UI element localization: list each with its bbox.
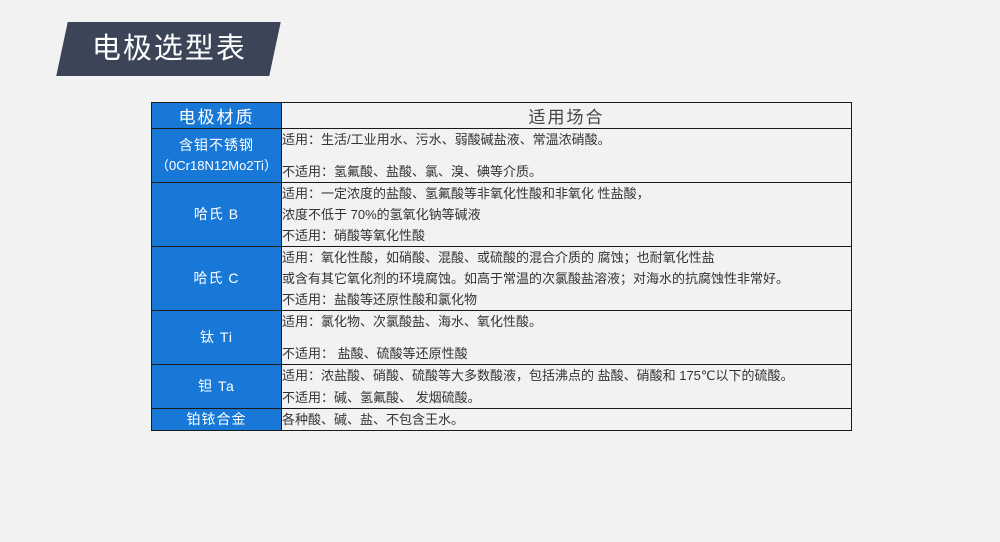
table-row: 含钼不锈钢（0Cr18N12Mo2Ti）适用：生活/工业用水、污水、弱酸碱盐液、… xyxy=(152,129,852,183)
material-name: 哈氏 B xyxy=(194,206,239,222)
usage-line: 适用：氧化性酸，如硝酸、混酸、或硫酸的混合介质的 腐蚀；也耐氧化性盐 xyxy=(282,247,851,268)
usage-line: 不适用： 盐酸、硫酸等还原性酸 xyxy=(282,343,851,364)
cell-usage: 各种酸、碱、盐、不包含王水。 xyxy=(282,408,852,431)
usage-line: 适用：浓盐酸、硝酸、硫酸等大多数酸液，包括沸点的 盐酸、硝酸和 175℃以下的硫… xyxy=(282,365,851,386)
usage-line: 不适用：碱、氢氟酸、 发烟硫酸。 xyxy=(282,387,851,408)
cell-material: 哈氏 B xyxy=(152,183,282,247)
usage-line: 或含有其它氧化剂的环境腐蚀。如高于常温的次氯酸盐溶液；对海水的抗腐蚀性非常好。 xyxy=(282,268,851,289)
table-row: 钛 Ti适用：氯化物、次氯酸盐、海水、氧化性酸。不适用： 盐酸、硫酸等还原性酸 xyxy=(152,311,852,365)
cell-usage: 适用：氯化物、次氯酸盐、海水、氧化性酸。不适用： 盐酸、硫酸等还原性酸 xyxy=(282,311,852,365)
material-name: 哈氏 C xyxy=(194,270,240,286)
cell-material: 哈氏 C xyxy=(152,247,282,311)
usage-line: 不适用：硝酸等氧化性酸 xyxy=(282,225,851,246)
cell-material: 钛 Ti xyxy=(152,311,282,365)
usage-line: 浓度不低于 70%的氢氧化钠等碱液 xyxy=(282,204,851,225)
usage-line: 不适用：盐酸等还原性酸和氯化物 xyxy=(282,289,851,310)
usage-line: 适用：生活/工业用水、污水、弱酸碱盐液、常温浓硝酸。 xyxy=(282,129,851,150)
usage-line: 适用：一定浓度的盐酸、氢氟酸等非氧化性酸和非氧化 性盐酸， xyxy=(282,183,851,204)
column-header-material: 电极材质 xyxy=(152,103,282,129)
table-row: 钽 Ta适用：浓盐酸、硝酸、硫酸等大多数酸液，包括沸点的 盐酸、硝酸和 175℃… xyxy=(152,365,852,408)
table-body: 含钼不锈钢（0Cr18N12Mo2Ti）适用：生活/工业用水、污水、弱酸碱盐液、… xyxy=(152,129,852,431)
usage-line: 适用：氯化物、次氯酸盐、海水、氧化性酸。 xyxy=(282,311,851,332)
cell-material: 钽 Ta xyxy=(152,365,282,408)
cell-usage: 适用：氧化性酸，如硝酸、混酸、或硫酸的混合介质的 腐蚀；也耐氧化性盐或含有其它氧… xyxy=(282,247,852,311)
electrode-selection-table: 电极材质 适用场合 含钼不锈钢（0Cr18N12Mo2Ti）适用：生活/工业用水… xyxy=(151,102,852,431)
cell-usage: 适用：浓盐酸、硝酸、硫酸等大多数酸液，包括沸点的 盐酸、硝酸和 175℃以下的硫… xyxy=(282,365,852,408)
column-header-usage: 适用场合 xyxy=(282,103,852,129)
material-name: 含钼不锈钢 xyxy=(179,137,254,153)
material-name: 铂铱合金 xyxy=(187,411,247,427)
cell-material: 铂铱合金 xyxy=(152,408,282,431)
table-row: 哈氏 B适用：一定浓度的盐酸、氢氟酸等非氧化性酸和非氧化 性盐酸，浓度不低于 7… xyxy=(152,183,852,247)
material-name: 钽 Ta xyxy=(198,378,235,394)
material-code: （0Cr18N12Mo2Ti） xyxy=(152,156,281,176)
cell-usage: 适用：生活/工业用水、污水、弱酸碱盐液、常温浓硝酸。不适用：氢氟酸、盐酸、氯、溴… xyxy=(282,129,852,183)
page-title: 电极选型表 xyxy=(92,35,247,64)
usage-line: 不适用：氢氟酸、盐酸、氯、溴、碘等介质。 xyxy=(282,161,851,182)
usage-line: 各种酸、碱、盐、不包含王水。 xyxy=(282,409,851,430)
table-header-row: 电极材质 适用场合 xyxy=(152,103,852,129)
table-header: 电极材质 适用场合 xyxy=(152,103,852,129)
cell-usage: 适用：一定浓度的盐酸、氢氟酸等非氧化性酸和非氧化 性盐酸，浓度不低于 70%的氢… xyxy=(282,183,852,247)
page-title-banner: 电极选型表 xyxy=(56,22,280,76)
material-name: 钛 Ti xyxy=(200,329,233,345)
cell-material: 含钼不锈钢（0Cr18N12Mo2Ti） xyxy=(152,129,282,183)
table-row: 铂铱合金各种酸、碱、盐、不包含王水。 xyxy=(152,408,852,431)
table-row: 哈氏 C适用：氧化性酸，如硝酸、混酸、或硫酸的混合介质的 腐蚀；也耐氧化性盐或含… xyxy=(152,247,852,311)
